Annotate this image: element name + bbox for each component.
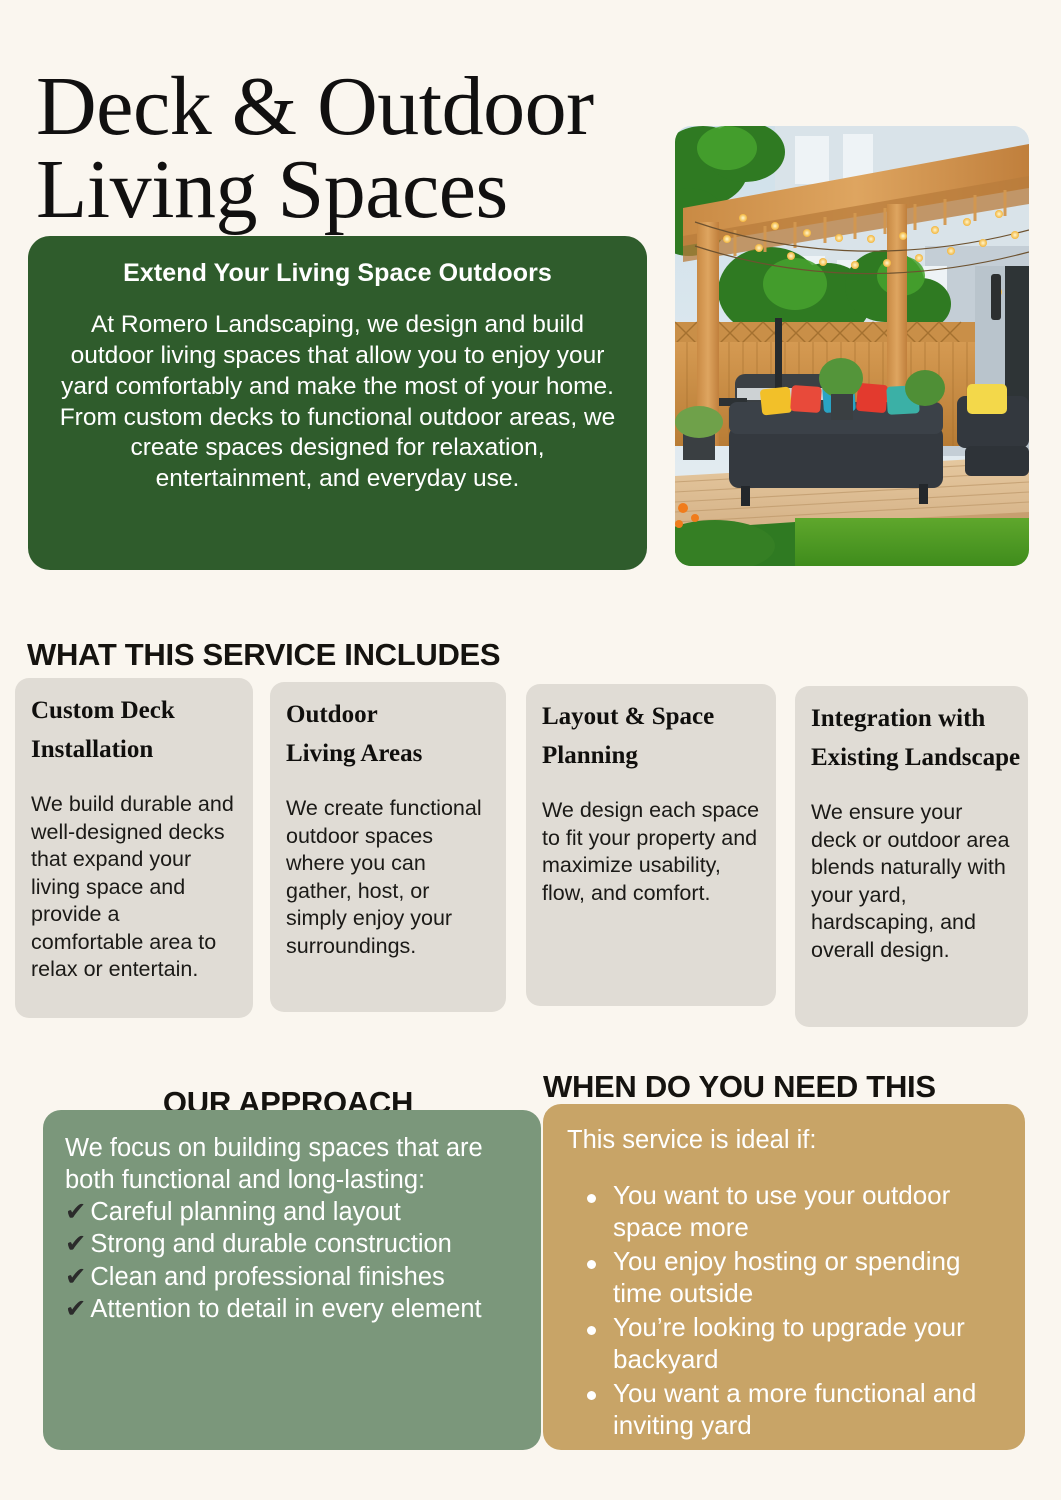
service-card-title-line-1: Outdoor xyxy=(286,701,378,728)
service-card-body: We design each space to fit your propert… xyxy=(542,797,760,907)
service-card-title: Outdoor Living Areas xyxy=(286,696,490,774)
intro-paragraph-2: From custom decks to functional outdoor … xyxy=(50,403,625,496)
check-icon: ✔ xyxy=(65,1228,86,1260)
section-heading-includes: WHAT THIS SERVICE INCLUDES xyxy=(27,638,727,673)
service-card-title-line-2: Existing Landscape xyxy=(811,744,1020,771)
approach-list-item: ✔Careful planning and layout xyxy=(65,1196,521,1228)
approach-item-label: Attention to detail in every element xyxy=(90,1295,481,1323)
service-card-title: Integration with Existing Landscape xyxy=(811,700,1012,778)
bullet-icon xyxy=(587,1326,596,1335)
service-card: Layout & Space Planning We design each s… xyxy=(526,684,776,1006)
deck-pergola-photo xyxy=(675,126,1029,566)
service-card-title: Layout & Space Planning xyxy=(542,698,760,776)
when-lead: This service is ideal if: xyxy=(567,1124,1007,1156)
bullet-icon xyxy=(587,1194,596,1203)
service-card: Custom Deck Installation We build durabl… xyxy=(15,678,253,1018)
page-title-line-1: Deck & Outdoor xyxy=(36,60,594,153)
service-infographic-page: Deck & Outdoor Living Spaces Extend Your… xyxy=(0,0,1061,1500)
check-icon: ✔ xyxy=(65,1293,86,1325)
approach-item-label: Careful planning and layout xyxy=(90,1198,400,1226)
bullet-icon xyxy=(587,1391,596,1400)
service-card-title-line-1: Custom Deck xyxy=(31,697,175,724)
service-card-title-line-1: Layout & Space xyxy=(542,703,714,730)
approach-item-label: Clean and professional finishes xyxy=(90,1263,444,1291)
approach-panel: We focus on building spaces that are bot… xyxy=(43,1110,541,1450)
approach-check-list: ✔Careful planning and layout ✔Strong and… xyxy=(65,1196,521,1325)
when-bullet-list: You want to use your outdoor space more … xyxy=(567,1180,1007,1442)
when-list-item: You want to use your outdoor space more xyxy=(613,1180,1007,1244)
approach-list-item: ✔Clean and professional finishes xyxy=(65,1261,521,1293)
when-item-label: You’re looking to upgrade your backyard xyxy=(613,1312,965,1374)
page-title: Deck & Outdoor Living Spaces xyxy=(36,66,736,231)
service-card-title-line-1: Integration with xyxy=(811,705,985,732)
service-card-title-line-2: Installation xyxy=(31,736,153,763)
check-icon: ✔ xyxy=(65,1196,86,1228)
page-title-line-2: Living Spaces xyxy=(36,143,508,236)
service-card-body: We ensure your deck or outdoor area blen… xyxy=(811,799,1012,964)
when-item-label: You want to use your outdoor space more xyxy=(613,1180,950,1242)
intro-paragraph-1: At Romero Landscaping, we design and bui… xyxy=(50,310,625,403)
bullet-icon xyxy=(587,1260,596,1269)
when-panel: This service is ideal if: You want to us… xyxy=(543,1104,1025,1450)
service-card-title-line-2: Planning xyxy=(542,742,638,769)
service-card-title: Custom Deck Installation xyxy=(31,692,237,770)
when-list-item: You enjoy hosting or spending time outsi… xyxy=(613,1246,1007,1310)
intro-body: At Romero Landscaping, we design and bui… xyxy=(50,310,625,495)
when-list-item: You’re looking to upgrade your backyard xyxy=(613,1312,1007,1376)
intro-panel: Extend Your Living Space Outdoors At Rom… xyxy=(28,236,647,570)
when-list-item: You want a more functional and inviting … xyxy=(613,1378,1007,1442)
service-card-title-line-2: Living Areas xyxy=(286,740,422,767)
intro-heading: Extend Your Living Space Outdoors xyxy=(50,258,625,288)
approach-list-item: ✔Attention to detail in every element xyxy=(65,1293,521,1325)
service-card-body: We create functional outdoor spaces wher… xyxy=(286,795,490,960)
check-icon: ✔ xyxy=(65,1261,86,1293)
when-item-label: You want a more functional and inviting … xyxy=(613,1378,976,1440)
service-card: Integration with Existing Landscape We e… xyxy=(795,686,1028,1027)
approach-list-item: ✔Strong and durable construction xyxy=(65,1228,521,1260)
approach-lead: We focus on building spaces that are bot… xyxy=(65,1132,521,1196)
service-card-body: We build durable and well-designed decks… xyxy=(31,791,237,984)
service-card: Outdoor Living Areas We create functiona… xyxy=(270,682,506,1012)
when-item-label: You enjoy hosting or spending time outsi… xyxy=(613,1246,960,1308)
approach-item-label: Strong and durable construction xyxy=(90,1230,451,1258)
